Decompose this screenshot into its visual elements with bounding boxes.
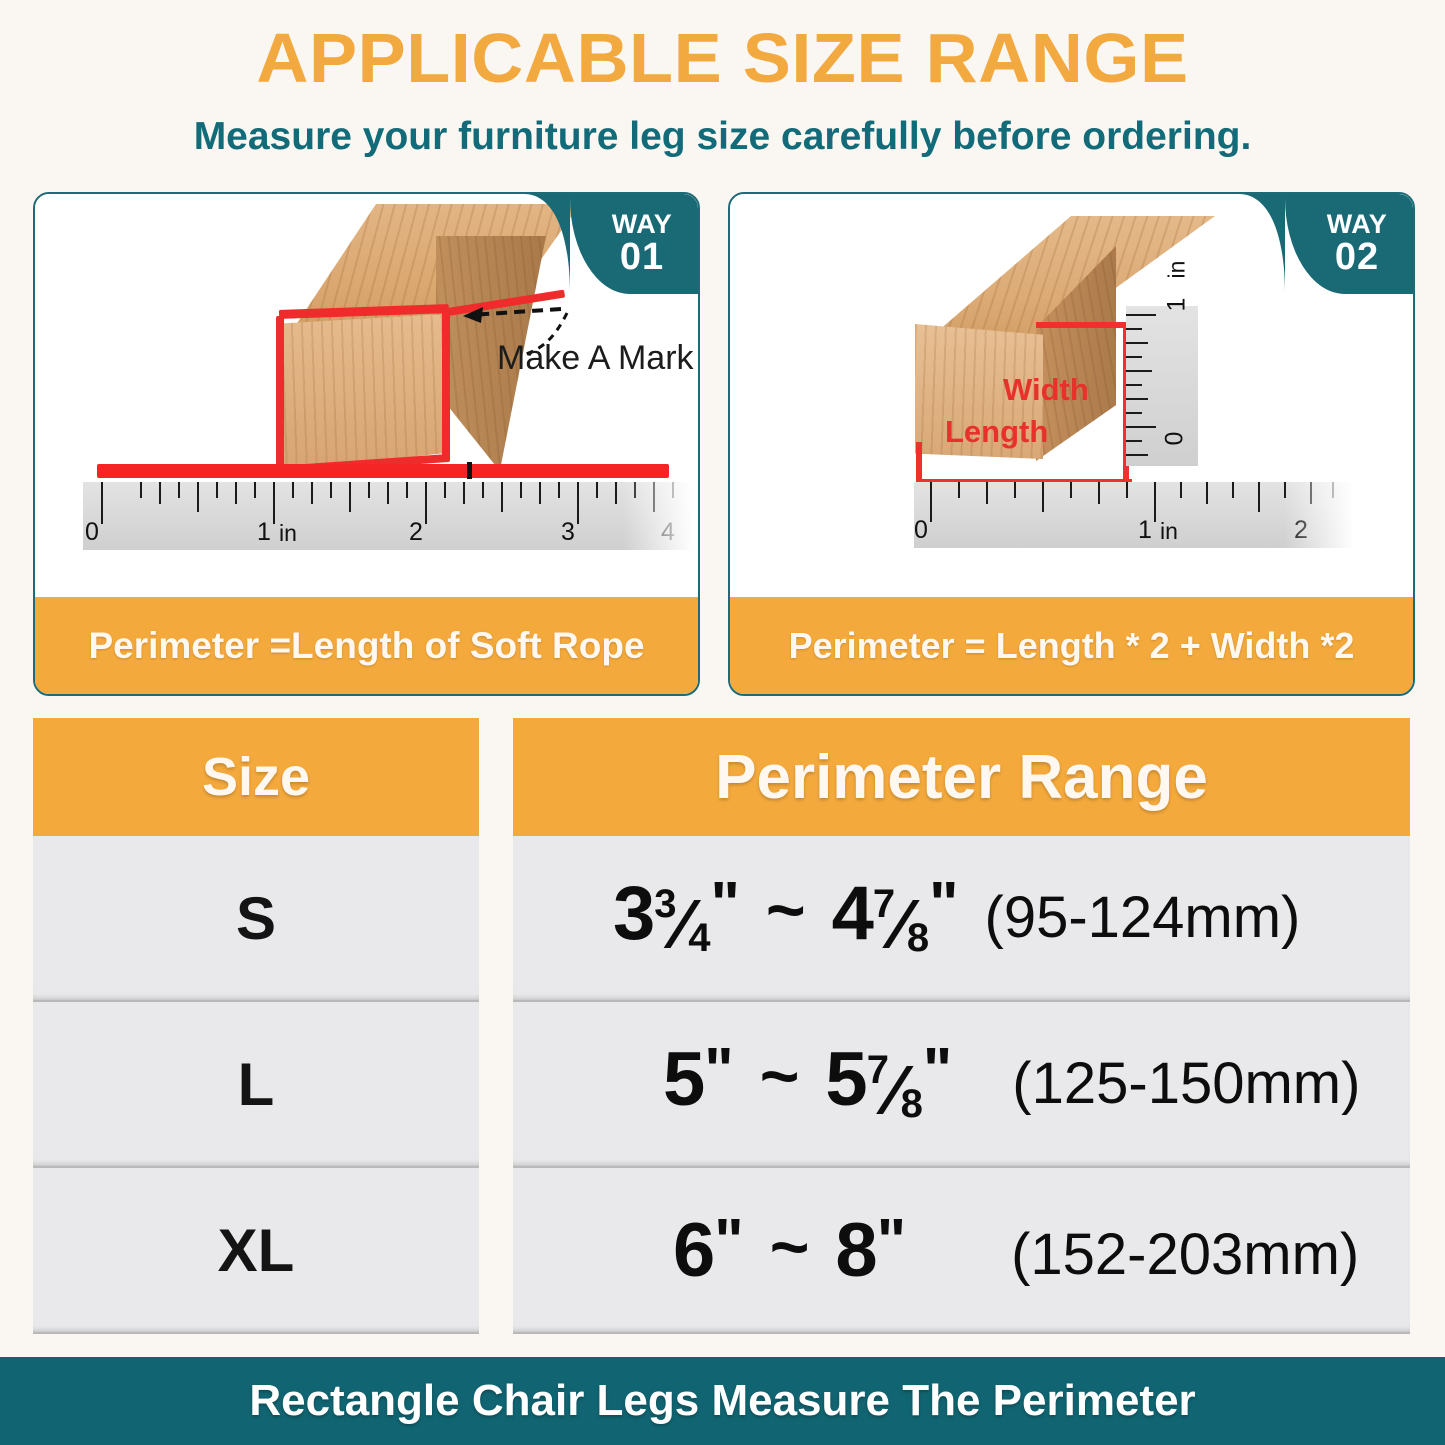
width-guide-top (1036, 322, 1132, 328)
from-fraction: 3 ⁄ 4 (654, 884, 710, 964)
range-mm: (125-150mm) (952, 1050, 1360, 1117)
to-inch-mark: " (923, 1035, 952, 1106)
way-01-badge-number: 01 (620, 238, 664, 278)
ruler-tick-0: 0 (85, 518, 99, 547)
horizontal-ruler: 0 1 in 2 3 4 (83, 482, 693, 550)
way-01-panel: Make A Mark (33, 192, 700, 696)
from-inch-mark: " (714, 1206, 743, 1277)
range-value: 3 3 ⁄ 4 " ~ 4 7 ⁄ 8 " (95-124mm) (553, 870, 1300, 967)
page-title: APPLICABLE SIZE RANGE (0, 18, 1445, 98)
ruler2-tick-1: 1 (1138, 516, 1152, 545)
table-row: L 5 " ~ 5 7 ⁄ 8 " (125-150mm) (0, 1002, 1445, 1168)
from-numerator: 3 (654, 882, 676, 927)
to-inch-mark: " (929, 869, 958, 940)
footer-banner: Rectangle Chair Legs Measure The Perimet… (0, 1357, 1445, 1445)
to-denominator: 8 (901, 1082, 923, 1127)
way-02-badge-number: 02 (1335, 238, 1379, 278)
table-header-row: Size Perimeter Range (0, 718, 1445, 836)
red-outline-left (276, 316, 284, 474)
rope-mark-tick (467, 462, 472, 479)
soft-rope-line (97, 464, 669, 478)
table-row: XL 6 " ~ 8 " (152-203mm) (0, 1168, 1445, 1334)
way-02-caption: Perimeter = Length * 2 + Width *2 (730, 597, 1413, 694)
to-inch-mark: " (877, 1206, 906, 1277)
vertical-ruler: 0 (1126, 306, 1198, 466)
fraction-slash: ⁄ (895, 884, 907, 964)
way-02-panel: Width Length 0 1 in (728, 192, 1415, 696)
ruler-tick-2: 2 (409, 518, 423, 547)
ruler2-tick-0: 0 (914, 516, 928, 545)
row-size-cell: L (33, 1002, 479, 1168)
to-numerator: 7 (867, 1048, 889, 1093)
header-perimeter-range: Perimeter Range (513, 718, 1410, 836)
row-size-cell: S (33, 836, 479, 1002)
size-label: L (238, 1050, 275, 1119)
to-whole: 4 (832, 870, 873, 957)
horizontal-ruler-2: 0 1 in 2 (914, 482, 1354, 548)
range-value: 6 " ~ 8 " (152-203mm) (553, 1207, 1359, 1294)
from-whole: 5 (663, 1036, 704, 1123)
width-label: Width (1003, 372, 1089, 408)
way-02-badge-word: WAY (1327, 211, 1388, 238)
way-01-illustration: Make A Mark (35, 194, 698, 597)
header-size: Size (33, 718, 479, 836)
to-numerator: 7 (873, 882, 895, 927)
fraction-slash: ⁄ (889, 1050, 901, 1130)
to-denominator: 8 (907, 916, 929, 961)
from-denominator: 4 (688, 916, 710, 961)
length-label: Length (945, 414, 1048, 450)
infographic-page: APPLICABLE SIZE RANGE Measure your furni… (0, 0, 1445, 1445)
range-value: 5 " ~ 5 7 ⁄ 8 " (125-150mm) (553, 1036, 1360, 1133)
way-02-badge: WAY 02 (1285, 194, 1413, 294)
size-label: XL (218, 1216, 295, 1285)
wood-end-face (276, 314, 446, 472)
row-range-cell: 6 " ~ 8 " (152-203mm) (513, 1168, 1410, 1334)
row-range-cell: 5 " ~ 5 7 ⁄ 8 " (125-150mm) (513, 1002, 1410, 1168)
from-inch-mark: " (704, 1035, 733, 1106)
way-01-badge-word: WAY (612, 211, 673, 238)
range-mm: (152-203mm) (906, 1221, 1359, 1288)
range-tilde: ~ (740, 871, 832, 949)
to-whole: 8 (835, 1207, 876, 1294)
vruler-tick-0: 0 (1160, 432, 1189, 446)
from-inch-mark: " (710, 869, 739, 940)
fraction-slash: ⁄ (677, 884, 689, 964)
range-tilde: ~ (734, 1037, 826, 1115)
row-size-cell: XL (33, 1168, 479, 1334)
vruler-tick-1: 1 (1162, 298, 1191, 312)
range-tilde: ~ (744, 1208, 836, 1286)
ruler-tick-3: 3 (561, 518, 575, 547)
badge-notch-shape-2 (1239, 194, 1285, 294)
range-mm: (95-124mm) (959, 884, 1301, 951)
way-02-illustration: Width Length 0 1 in (730, 194, 1413, 597)
ruler-unit-label: in (279, 520, 297, 547)
to-whole: 5 (825, 1036, 866, 1123)
make-a-mark-label: Make A Mark (497, 339, 694, 378)
size-label: S (236, 884, 276, 953)
ruler2-unit-label: in (1160, 518, 1178, 545)
table-row: S 3 3 ⁄ 4 " ~ 4 7 ⁄ 8 (0, 836, 1445, 1002)
vruler-unit-label: in (1163, 261, 1190, 279)
from-whole: 6 (673, 1207, 714, 1294)
from-whole: 3 (613, 870, 654, 957)
to-fraction: 7 ⁄ 8 (867, 1050, 923, 1130)
way-01-caption: Perimeter =Length of Soft Rope (35, 597, 698, 694)
row-range-cell: 3 3 ⁄ 4 " ~ 4 7 ⁄ 8 " (95-124mm) (513, 836, 1410, 1002)
to-fraction: 7 ⁄ 8 (873, 884, 929, 964)
ruler-tick-1: 1 (257, 518, 271, 547)
page-subtitle: Measure your furniture leg size carefull… (0, 115, 1445, 159)
size-table: Size Perimeter Range S 3 3 ⁄ 4 " ~ 4 (0, 718, 1445, 1334)
